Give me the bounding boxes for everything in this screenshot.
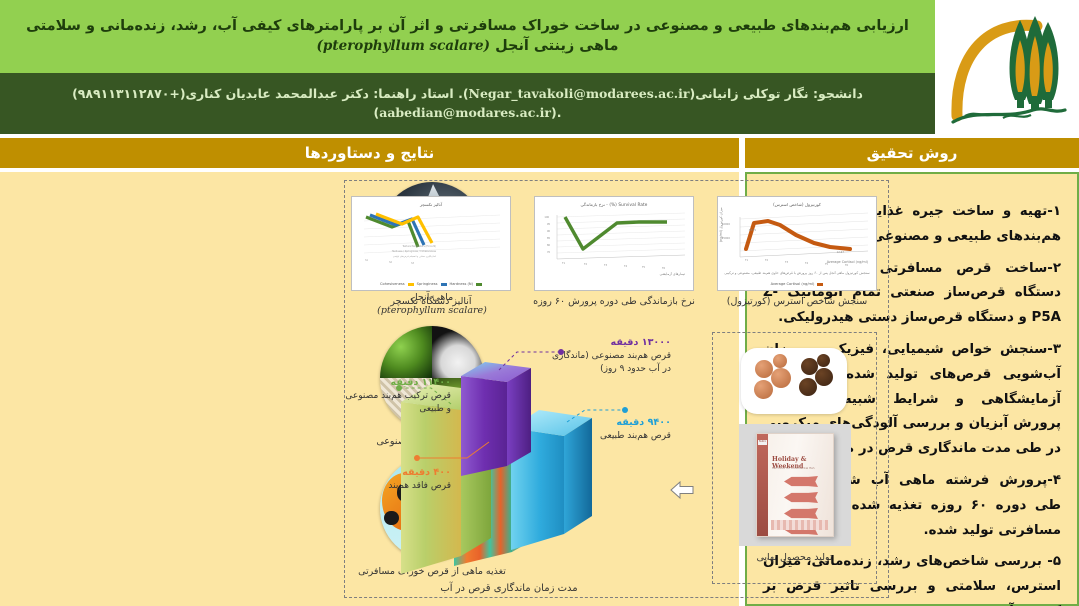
callout-no-binder: ۴۰۰ دقیقه قرص فاقد هم‌بند bbox=[359, 466, 451, 493]
chart-survival-xlabel: تیمارهای آزمایشی bbox=[660, 272, 685, 276]
tablet-light-2 bbox=[771, 368, 791, 388]
university-logo bbox=[935, 0, 1079, 134]
final-product-box-photo: Nutro Holiday & Weekend fish food for or… bbox=[739, 424, 851, 546]
callout-natural-binder: ۹۴۰۰ دقیقه قرص هم‌بند طبیعی bbox=[551, 416, 671, 443]
poster-title: ارزیابی هم‌بندهای طبیعی و مصنوعی در ساخت… bbox=[14, 17, 921, 56]
svg-text:25000: 25000 bbox=[722, 236, 731, 240]
legend-swatch-springiness bbox=[441, 283, 447, 286]
chart-card-texture: آنالیز تکسچر Texture Parameters (Force N… bbox=[351, 196, 511, 291]
student-email[interactable]: Negar_tavakoli@modarees.ac.ir bbox=[469, 85, 690, 104]
legend-label-springiness: Springiness bbox=[417, 282, 438, 286]
callout-synthetic-desc: قرص هم‌بند مصنوعی (ماندگاری در آب حدود ۹… bbox=[551, 350, 671, 376]
tablet-dark-2 bbox=[815, 368, 833, 386]
poster-header: ارزیابی هم‌بندهای طبیعی و مصنوعی در ساخت… bbox=[0, 0, 1079, 134]
chart-texture-legend: Hardness (N) Springiness Cohesiveness bbox=[352, 282, 510, 286]
chart-caption-cortisol: سنجش شاخص استرس (کورتیزول) bbox=[712, 296, 882, 307]
chart-card-cortisol: کورتیزول (شاخص استرس) میزان کورتیزول (ng… bbox=[717, 196, 877, 291]
section-title-results: نتایج و دستاوردها bbox=[305, 144, 435, 162]
chart-survival-plot: 1009590 858070 T1T2T3 T4T5T6 bbox=[535, 209, 695, 279]
travel-feed-tablets-photo bbox=[741, 348, 847, 414]
tarbiat-modares-logo-icon bbox=[941, 4, 1073, 130]
callout-nobinder-desc: قرص فاقد هم‌بند bbox=[359, 480, 451, 493]
chart-cortisol-title: کورتیزول (شاخص استرس) bbox=[718, 197, 876, 207]
chart-texture-title: آنالیز تکسچر bbox=[352, 197, 510, 207]
svg-text:اندازه‌گیری سختی و انسجام قرص‌: اندازه‌گیری سختی و انسجام قرص‌های تولیدی bbox=[393, 254, 436, 258]
chart-texture-plot: Texture Parameters (Force N) Hardness / … bbox=[352, 207, 512, 273]
svg-text:70: 70 bbox=[547, 251, 551, 254]
retention-bar-chart: ۱۳۰۰۰ دقیقه قرص هم‌بند مصنوعی (ماندگاری … bbox=[339, 330, 679, 598]
svg-text:38.75: 38.75 bbox=[749, 228, 757, 232]
chart-cortisol-xseries: Average Cortisol (ng/ml) bbox=[827, 260, 868, 264]
svg-text:T1: T1 bbox=[745, 259, 748, 262]
tablet-light-3 bbox=[754, 380, 773, 399]
supervisor-email[interactable]: aabedian@modares.ac.ir bbox=[379, 104, 551, 123]
svg-text:95: 95 bbox=[547, 223, 551, 226]
product-caption: تولید محصول نهایی bbox=[712, 552, 877, 563]
chart-survival-title: Survival Rate (%) - نرخ بازماندگی bbox=[535, 197, 693, 207]
tablet-dark-4 bbox=[817, 354, 830, 367]
svg-text:T6: T6 bbox=[845, 264, 848, 267]
svg-text:90: 90 bbox=[547, 230, 551, 233]
tablet-dark-3 bbox=[799, 378, 817, 396]
svg-text:12.67: 12.67 bbox=[837, 250, 845, 254]
svg-text:T2: T2 bbox=[765, 259, 768, 262]
legend-label-hardness: Hardness (N) bbox=[450, 282, 473, 286]
supervisor-label: ). استاد راهنما: دکتر عبدالمحمد عابدیان … bbox=[72, 86, 468, 101]
chart-caption-survival: نرخ بازماندگی طی دوره پرورش ۶۰ روزه bbox=[529, 296, 699, 307]
chart-cortisol-note: سنجش کورتیزول ماهی آنجل پس از ۶۰ روز پرو… bbox=[724, 271, 870, 276]
leader-dot-natural bbox=[622, 407, 628, 413]
svg-text:T1: T1 bbox=[562, 262, 565, 265]
chart-caption-texture: آنالیز دستگاه تکسچر bbox=[346, 296, 516, 307]
poster-root: ارزیابی هم‌بندهای طبیعی و مصنوعی در ساخت… bbox=[0, 0, 1079, 606]
callout-combined-desc: قرص ترکیب هم‌بند مصنوعی و طبیعی bbox=[343, 390, 451, 416]
package-brand: Nutro bbox=[758, 440, 767, 445]
chart-card-survival: Survival Rate (%) - نرخ بازماندگی 100959… bbox=[534, 196, 694, 291]
author-band: دانشجو: نگار توکلی زانیانی(Negar_tavakol… bbox=[0, 73, 935, 134]
callout-natural-desc: قرص هم‌بند طبیعی bbox=[551, 430, 671, 443]
legend-label-cortisol: Average Cortisol (ng/ml) bbox=[771, 282, 815, 286]
callout-combined-value: ۱۱۴۰۰ دقیقه bbox=[343, 376, 451, 390]
legend-swatch-cohesiveness bbox=[408, 283, 414, 286]
svg-text:50000: 50000 bbox=[722, 222, 731, 226]
supervisor-email-prefix: .( bbox=[551, 105, 561, 120]
package-footer-pattern bbox=[771, 520, 828, 530]
svg-text:T6: T6 bbox=[662, 267, 665, 270]
retention-chart-caption: مدت زمان ماندگاری قرص در آب bbox=[339, 583, 679, 594]
section-title-method: روش تحقیق bbox=[867, 144, 958, 162]
fish-glyph-1 bbox=[784, 476, 818, 487]
section-bar-results: نتایج و دستاوردها bbox=[0, 138, 739, 168]
author-line: دانشجو: نگار توکلی زانیانی(Negar_tavakol… bbox=[72, 85, 863, 123]
svg-text:T3: T3 bbox=[604, 264, 607, 267]
legend-label-cohesiveness: Cohesiveness bbox=[380, 282, 405, 286]
legend-swatch-cortisol bbox=[817, 283, 823, 286]
callout-combined-binder: ۱۱۴۰۰ دقیقه قرص ترکیب هم‌بند مصنوعی و طب… bbox=[343, 376, 451, 416]
svg-text:80: 80 bbox=[547, 244, 551, 247]
poster-title-species: (pterophyllum scalare) bbox=[317, 37, 490, 55]
svg-text:100: 100 bbox=[544, 216, 549, 219]
callout-synthetic-value: ۱۳۰۰۰ دقیقه bbox=[551, 336, 671, 350]
svg-text:S1: S1 bbox=[365, 259, 368, 262]
title-band: ارزیابی هم‌بندهای طبیعی و مصنوعی در ساخت… bbox=[0, 0, 935, 73]
callout-natural-value: ۹۴۰۰ دقیقه bbox=[551, 416, 671, 430]
svg-text:S2: S2 bbox=[389, 261, 392, 264]
package-subtitle: fish food for ornamental fish bbox=[772, 466, 829, 470]
chart-cortisol-legend: Average Cortisol (ng/ml) bbox=[718, 282, 876, 286]
callout-nobinder-value: ۴۰۰ دقیقه bbox=[359, 466, 451, 480]
svg-text:T3: T3 bbox=[785, 261, 788, 264]
svg-text:85: 85 bbox=[547, 237, 551, 240]
student-label: دانشجو: نگار توکلی زانیانی( bbox=[690, 86, 863, 101]
svg-text:T4: T4 bbox=[805, 262, 808, 265]
package-spine bbox=[757, 434, 768, 536]
fish-glyph-2 bbox=[784, 492, 818, 503]
svg-text:T4: T4 bbox=[624, 265, 627, 268]
callout-synthetic-binder: ۱۳۰۰۰ دقیقه قرص هم‌بند مصنوعی (ماندگاری … bbox=[551, 336, 671, 376]
svg-text:Hardness / Springiness / Cohes: Hardness / Springiness / Cohesiveness bbox=[392, 250, 437, 253]
svg-text:T2: T2 bbox=[584, 263, 587, 266]
tablet-light-4 bbox=[773, 354, 787, 368]
product-package: Nutro Holiday & Weekend fish food for or… bbox=[756, 433, 834, 537]
svg-text:Texture Parameters (Force N): Texture Parameters (Force N) bbox=[403, 245, 437, 248]
fish-glyph-3 bbox=[784, 508, 818, 519]
leader-dot-nobinder bbox=[414, 455, 420, 461]
legend-swatch-hardness bbox=[476, 283, 482, 286]
svg-text:T5: T5 bbox=[642, 266, 645, 269]
section-bar-method: روش تحقیق bbox=[745, 138, 1079, 168]
svg-text:S3: S3 bbox=[411, 262, 414, 265]
